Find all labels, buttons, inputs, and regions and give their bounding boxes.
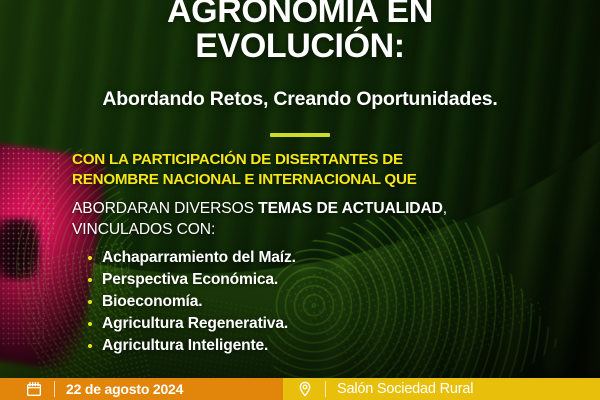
highlight-line-2: RENOMBRE NACIONAL E INTERNACIONAL QUE: [72, 171, 417, 188]
body-paragraph: ABORDARAN DIVERSOS TEMAS DE ACTUALIDAD, …: [72, 199, 570, 240]
topics-list: Achaparramiento del Maíz. Perspectiva Ec…: [72, 247, 570, 358]
poster-subtitle: Abordando Retos, Creando Oportunidades.: [0, 88, 600, 111]
highlight-line-1: CON LA PARTICIPACIÓN DE DISERTANTES DE: [72, 151, 403, 168]
poster-title: AGRONOMÍA EN EVOLUCIÓN:: [0, 0, 600, 64]
calendar-icon: [26, 381, 42, 397]
list-item: Agricultura Inteligente.: [72, 335, 570, 357]
poster-canvas: AGRONOMÍA EN EVOLUCIÓN: Abordando Retos,…: [0, 0, 600, 400]
list-item: Perspectiva Económica.: [72, 269, 570, 291]
footer-venue-divider: [325, 381, 326, 397]
footer-venue-section: Salón Sociedad Rural: [283, 378, 600, 400]
title-line-2: EVOLUCIÓN:: [0, 29, 600, 64]
body-line-1-plain: ABORDARAN DIVERSOS: [72, 200, 258, 217]
title-divider: [270, 133, 330, 137]
title-line-1: AGRONOMÍA EN: [167, 0, 433, 30]
body-line-1-bold: TEMAS DE ACTUALIDAD: [258, 200, 443, 217]
body-line-2: VINCULADOS CON:: [72, 221, 215, 238]
body-line-1-tail: ,: [443, 200, 447, 217]
highlight-paragraph: CON LA PARTICIPACIÓN DE DISERTANTES DE R…: [72, 150, 570, 190]
footer-date-section: 22 de agosto 2024: [0, 378, 283, 400]
footer-bar: 22 de agosto 2024 Salón Sociedad Rural: [0, 378, 600, 400]
list-item: Agricultura Regenerativa.: [72, 313, 570, 335]
location-pin-icon: [297, 381, 313, 397]
footer-venue-text: Salón Sociedad Rural: [337, 382, 473, 397]
poster-body: CON LA PARTICIPACIÓN DE DISERTANTES DE R…: [72, 150, 570, 357]
list-item: Bioeconomía.: [72, 291, 570, 313]
footer-date-divider: [54, 381, 55, 397]
list-item: Achaparramiento del Maíz.: [72, 247, 570, 269]
footer-date-text: 22 de agosto 2024: [66, 382, 183, 396]
